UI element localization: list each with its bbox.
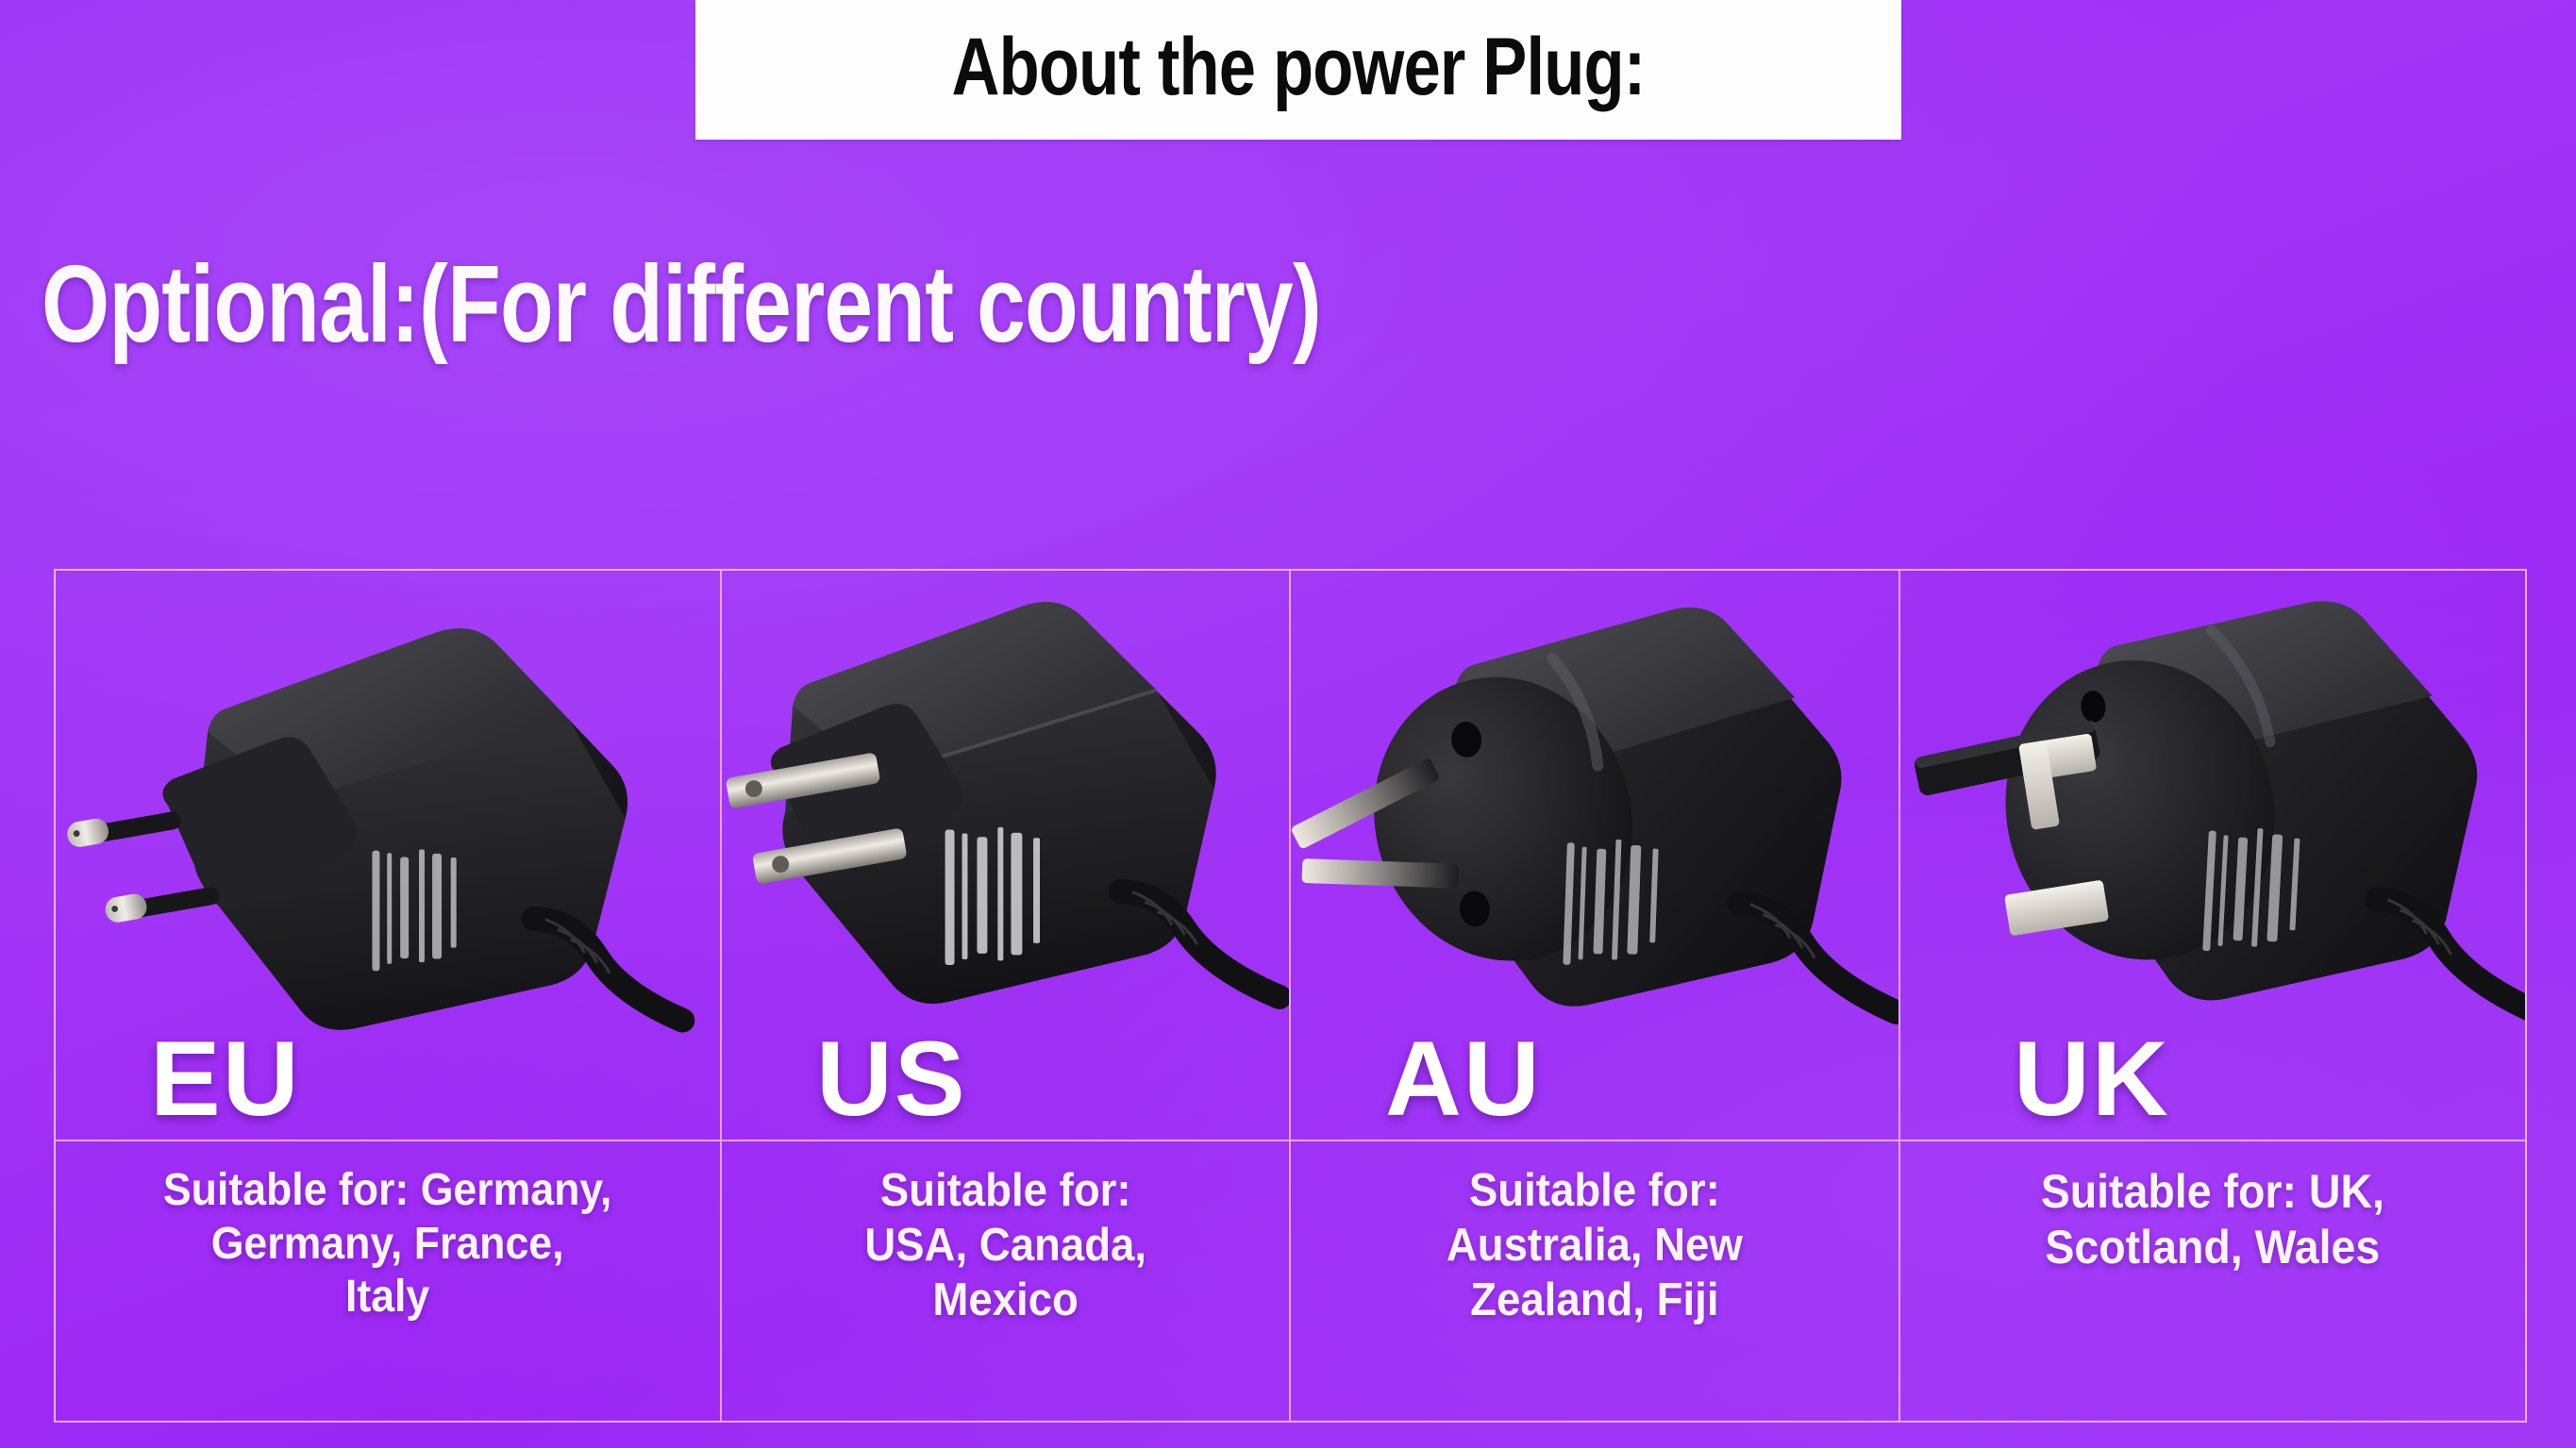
plug-code-eu: EU [56,1026,301,1132]
product-info-graphic: About the power Plug: Optional:(For diff… [0,0,2576,1448]
title-banner: About the power Plug: [695,0,1901,140]
plug-column-uk: UK Suitable for: UK, Scotland, Wales [1900,571,2525,1421]
plug-suitability-cell-us: Suitable for: USA, Canada, Mexico [722,1141,1289,1421]
suitable-for-au: Suitable for: Australia, New Zealand, Fi… [1447,1164,1743,1327]
plug-column-eu: EU Suitable for: Germany, Germany, Franc… [56,571,722,1421]
plug-image-cell-uk: UK [1900,571,2525,1141]
plug-column-us: US Suitable for: USA, Canada, Mexico [722,571,1291,1421]
suitable-for-eu: Suitable for: Germany, Germany, France, … [163,1164,611,1324]
plug-suitability-cell-uk: Suitable for: UK, Scotland, Wales [1900,1141,2525,1421]
plug-image-cell-au: AU [1291,571,1899,1141]
plug-image-cell-eu: EU [56,571,720,1141]
plug-code-us: US [722,1026,967,1132]
plug-code-au: AU [1291,1026,1542,1132]
plug-suitability-cell-au: Suitable for: Australia, New Zealand, Fi… [1291,1141,1899,1421]
plug-comparison-table: EU Suitable for: Germany, Germany, Franc… [54,569,2527,1423]
plug-image-cell-us: US [722,571,1289,1141]
page-title: About the power Plug: [804,0,1793,140]
subtitle-optional: Optional:(For different country) [42,241,1321,367]
plug-code-uk: UK [1900,1026,2170,1132]
suitable-for-us: Suitable for: USA, Canada, Mexico [864,1164,1146,1327]
suitable-for-uk: Suitable for: UK, Scotland, Wales [2041,1164,2384,1275]
plug-suitability-cell-eu: Suitable for: Germany, Germany, France, … [56,1141,720,1421]
plug-column-au: AU Suitable for: Australia, New Zealand,… [1291,571,1900,1421]
